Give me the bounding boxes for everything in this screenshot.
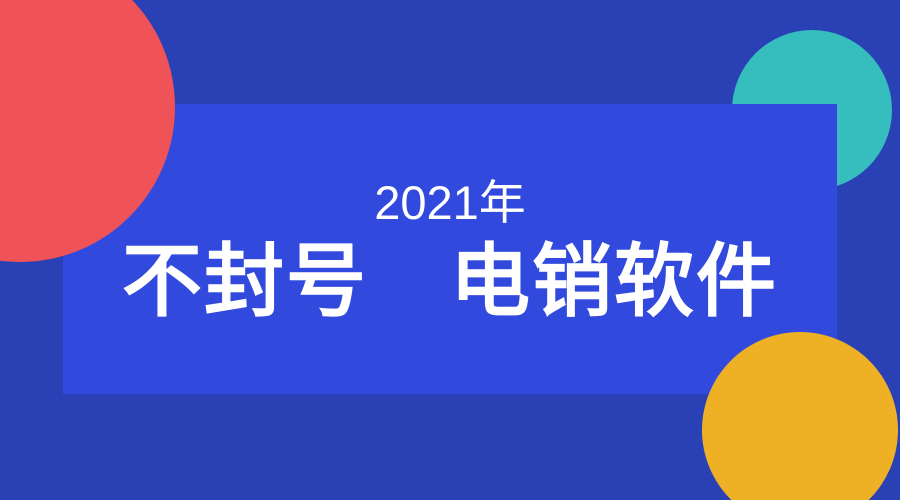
inner-panel-rectangle [63, 104, 837, 394]
promo-banner: 2021年 不封号 电销软件 [0, 0, 900, 500]
